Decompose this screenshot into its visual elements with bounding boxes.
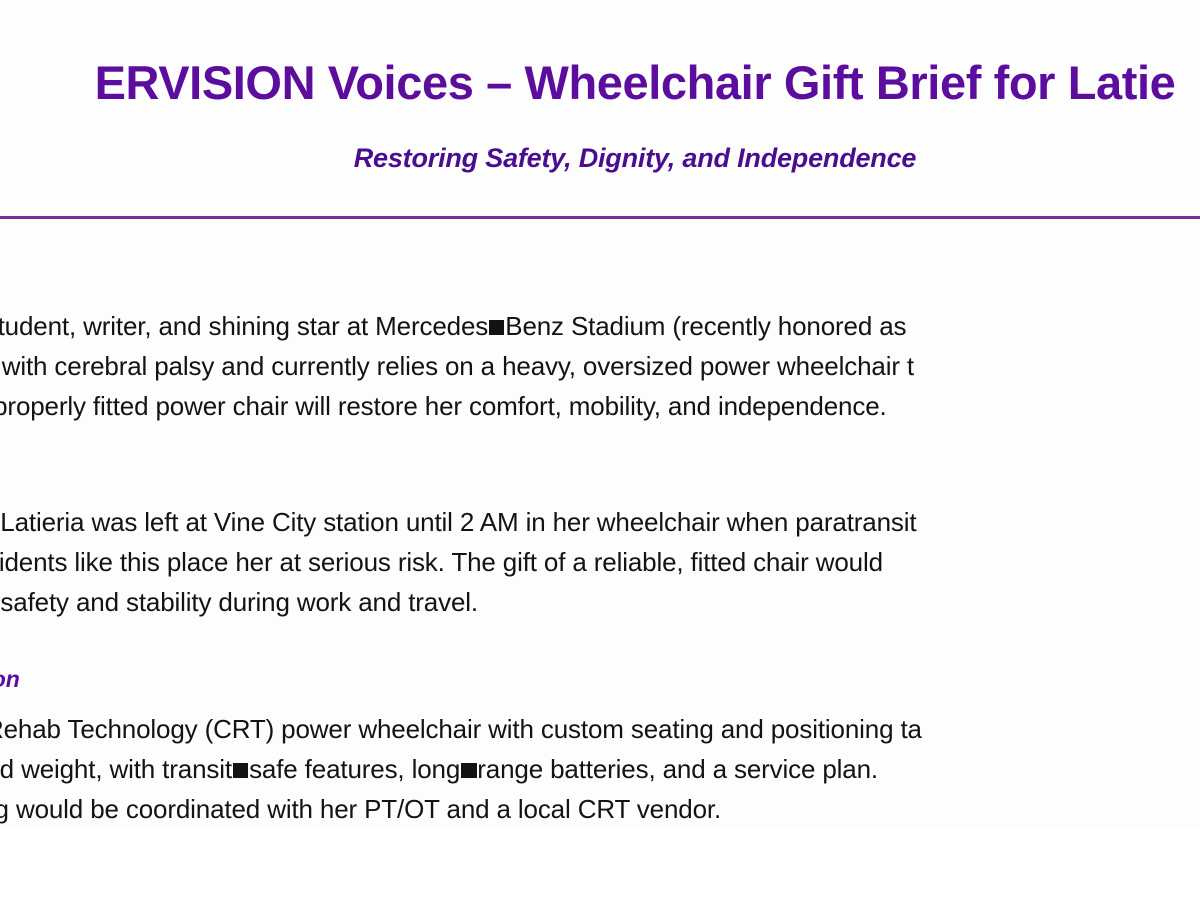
document-header: ERVISION Voices – Wheelchair Gift Brief … [0, 0, 1200, 219]
text-line: tadium shift, Latieria was left at Vine … [0, 502, 1200, 542]
text-line: nd failing. A properly fitted power chai… [0, 386, 1200, 426]
section-heading-overview: w [0, 263, 1200, 290]
section-text-incident: tadium shift, Latieria was left at Vine … [0, 502, 1200, 622]
text-line: a Complex Rehab Technology (CRT) power w… [0, 709, 1200, 749]
page-subtitle: Restoring Safety, Dignity, and Independe… [0, 143, 1200, 174]
text-line: ent and fitting would be coordinated wit… [0, 789, 1200, 829]
missing-glyph-icon [489, 320, 505, 336]
text-line: k). She lives with cerebral palsy and cu… [0, 346, 1200, 386]
document-body: w s a college student, writer, and shini… [0, 219, 1200, 829]
missing-glyph-icon [233, 763, 249, 779]
text-line: s a college student, writer, and shining… [0, 306, 1200, 346]
page-title: ERVISION Voices – Wheelchair Gift Brief … [0, 58, 1200, 109]
document-page: ERVISION Voices – Wheelchair Gift Brief … [0, 0, 1200, 829]
section-text-recommended-solution: a Complex Rehab Technology (CRT) power w… [0, 709, 1200, 829]
section-text-overview: s a college student, writer, and shining… [0, 306, 1200, 426]
section-recommended-solution: ended Solution a Complex Rehab Technolog… [0, 666, 1200, 829]
section-heading-recommended-solution: ended Solution [0, 666, 1200, 693]
missing-glyph-icon [461, 763, 477, 779]
document-viewport[interactable]: ERVISION Voices – Wheelchair Gift Brief … [0, 0, 1200, 900]
text-line: ce failed. Incidents like this place her… [0, 542, 1200, 582]
section-overview: w s a college student, writer, and shini… [0, 263, 1200, 426]
text-line: tely improve safety and stability during… [0, 582, 1200, 622]
text-line: a's height and weight, with transitsafe … [0, 749, 1200, 789]
section-incident: tadium shift, Latieria was left at Vine … [0, 486, 1200, 622]
